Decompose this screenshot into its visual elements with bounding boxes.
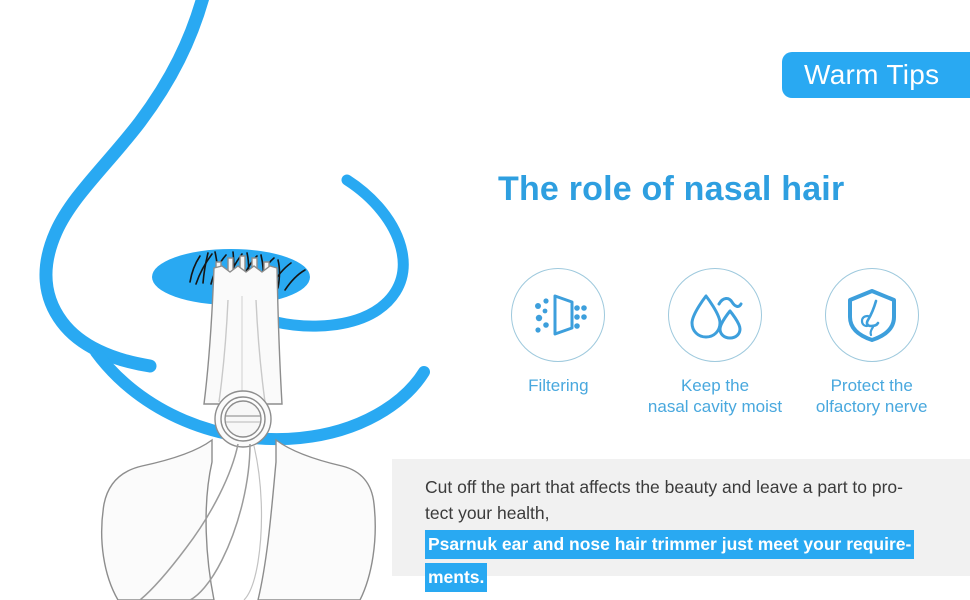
page-title: The role of nasal hair (498, 170, 844, 209)
benefit-keep-moist: Keep the nasal cavity moist (637, 268, 794, 417)
filter-particles-icon (529, 286, 587, 344)
benefit-label: Filtering (528, 375, 588, 396)
water-droplets-icon (686, 286, 744, 344)
benefit-protect-nerve: Protect the olfactory nerve (793, 268, 950, 417)
benefits-row: Filtering Keep the nasal cavity moist (480, 268, 950, 417)
note-line-1: Cut off the part that affects the beauty… (425, 474, 960, 500)
benefit-label: Protect the olfactory nerve (816, 375, 928, 417)
benefit-icon-circle (825, 268, 919, 362)
warm-tips-note-box: Cut off the part that affects the beauty… (392, 459, 970, 576)
benefit-icon-circle (511, 268, 605, 362)
note-highlight-wrap-1: Psarnuk ear and nose hair trimmer just m… (425, 526, 960, 559)
benefit-icon-circle (668, 268, 762, 362)
warm-tips-badge: Warm Tips (782, 52, 970, 98)
note-text-block: Cut off the part that affects the beauty… (425, 474, 960, 592)
warm-tips-panel: Warm Tips The role of nasal hair (0, 0, 970, 600)
note-highlight-line-1: Psarnuk ear and nose hair trimmer just m… (425, 530, 914, 559)
benefit-filtering: Filtering (480, 268, 637, 396)
note-line-2: tect your health, (425, 500, 960, 526)
warm-tips-label: Warm Tips (782, 52, 970, 98)
shield-nose-icon (843, 286, 901, 344)
nose-with-trimmer-illustration (0, 0, 440, 600)
benefit-label: Keep the nasal cavity moist (648, 375, 782, 417)
note-highlight-wrap-2: ments. (425, 559, 960, 592)
note-highlight-line-2: ments. (425, 563, 487, 592)
